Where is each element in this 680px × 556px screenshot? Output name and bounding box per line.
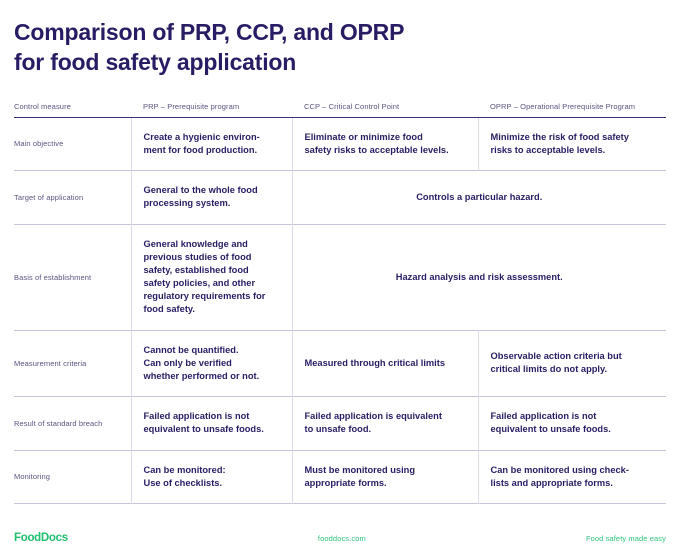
comparison-table: Control measure PRP – Prerequisite progr…: [14, 102, 666, 504]
row-label: Result of standard breach: [14, 397, 131, 450]
cell-ccp: Eliminate or minimize foodsafety risks t…: [292, 117, 478, 170]
cell-ccp: Failed application is equivalentto unsaf…: [292, 397, 478, 450]
footer-website-link[interactable]: fooddocs.com: [98, 534, 586, 543]
page-title: Comparison of PRP, CCP, and OPRP for foo…: [14, 0, 666, 92]
cell-prp: Create a hygienic environ-ment for food …: [131, 117, 292, 170]
table-row: MonitoringCan be monitored:Use of checkl…: [14, 450, 666, 503]
cell-prp: Can be monitored:Use of checklists.: [131, 450, 292, 503]
fooddocs-logo: FoodDocs: [14, 532, 68, 544]
cell-oprp: Can be monitored using check-lists and a…: [478, 450, 666, 503]
cell-oprp: Observable action criteria butcritical l…: [478, 330, 666, 397]
column-header-control-measure: Control measure: [14, 102, 131, 118]
row-label: Monitoring: [14, 450, 131, 503]
table-row: Main objectiveCreate a hygienic environ-…: [14, 117, 666, 170]
footer: FoodDocs fooddocs.com Food safety made e…: [14, 532, 666, 544]
table-header-row: Control measure PRP – Prerequisite progr…: [14, 102, 666, 118]
table-row: Target of applicationGeneral to the whol…: [14, 171, 666, 224]
cell-merged-ccp-oprp: Hazard analysis and risk assessment.: [292, 224, 666, 330]
table-row: Result of standard breachFailed applicat…: [14, 397, 666, 450]
row-label: Basis of establishment: [14, 224, 131, 330]
cell-oprp: Minimize the risk of food safetyrisks to…: [478, 117, 666, 170]
cell-ccp: Must be monitored usingappropriate forms…: [292, 450, 478, 503]
page-title-line-1: Comparison of PRP, CCP, and OPRP: [14, 18, 666, 48]
page-title-line-2: for food safety application: [14, 48, 666, 78]
table-row: Measurement criteriaCannot be quantified…: [14, 330, 666, 397]
column-header-oprp: OPRP – Operational Prerequisite Program: [478, 102, 666, 118]
cell-prp: Failed application is notequivalent to u…: [131, 397, 292, 450]
column-header-ccp: CCP – Critical Control Point: [292, 102, 478, 118]
cell-prp: Cannot be quantified.Can only be verifie…: [131, 330, 292, 397]
infographic-page: Comparison of PRP, CCP, and OPRP for foo…: [0, 0, 680, 556]
cell-prp: General knowledge andprevious studies of…: [131, 224, 292, 330]
cell-prp: General to the whole foodprocessing syst…: [131, 171, 292, 224]
cell-oprp: Failed application is notequivalent to u…: [478, 397, 666, 450]
cell-ccp: Measured through critical limits: [292, 330, 478, 397]
row-label: Target of application: [14, 171, 131, 224]
table-header: Control measure PRP – Prerequisite progr…: [14, 102, 666, 118]
column-header-prp: PRP – Prerequisite program: [131, 102, 292, 118]
row-label: Measurement criteria: [14, 330, 131, 397]
cell-merged-ccp-oprp: Controls a particular hazard.: [292, 171, 666, 224]
table-body: Main objectiveCreate a hygienic environ-…: [14, 117, 666, 503]
row-label: Main objective: [14, 117, 131, 170]
footer-tagline: Food safety made easy: [586, 534, 666, 543]
table-row: Basis of establishmentGeneral knowledge …: [14, 224, 666, 330]
